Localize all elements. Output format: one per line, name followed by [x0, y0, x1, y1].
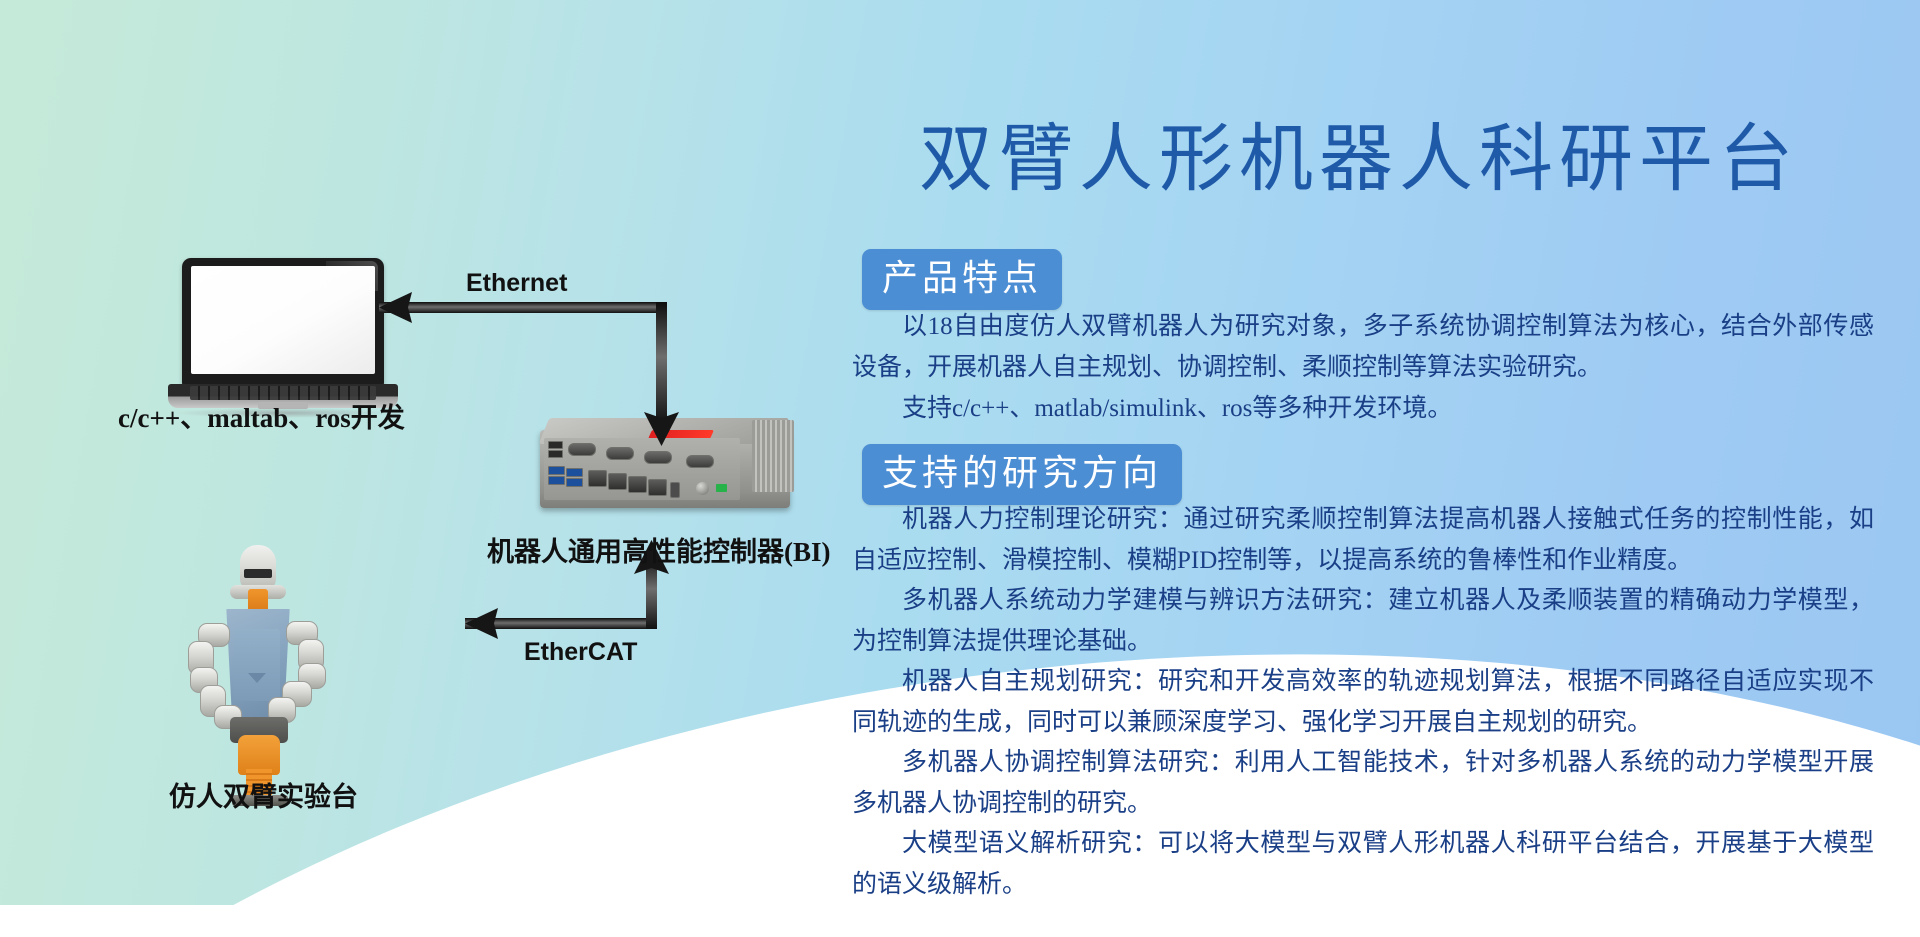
- controller-power-connector: [696, 482, 709, 495]
- section-badge-research-directions: 支持的研究方向: [862, 444, 1182, 505]
- controller-serial-port: [606, 447, 634, 460]
- controller-usb3-port: [566, 468, 583, 477]
- caption-laptop: c/c++、maltab、ros开发: [118, 396, 405, 435]
- controller-usb3-port: [548, 476, 565, 485]
- robot-visor: [244, 569, 272, 578]
- controller-serial-port: [686, 455, 714, 468]
- content-panel: 双臂人形机器人科研平台 产品特点 以18自由度仿人双臂机器人为研究对象，多子系统…: [838, 0, 1920, 937]
- laptop-lid: [182, 258, 384, 386]
- paragraph-research-4: 多机器人协调控制算法研究：利用人工智能技术，针对多机器人系统的动力学模型开展多机…: [852, 742, 1874, 824]
- paragraph-research-5: 大模型语义解析研究：可以将大模型与双臂人形机器人科研平台结合，开展基于大模型的语…: [852, 823, 1874, 905]
- industrial-controller-icon: [522, 416, 800, 521]
- laptop-screen: [191, 266, 375, 374]
- poster-root: Ethernet EtherCAT c/c++、maltab、ros开发 机器人…: [0, 0, 1920, 937]
- controller-usb3-port: [566, 478, 583, 487]
- link-label-ethercat: EtherCAT: [524, 638, 637, 667]
- controller-ethernet-port: [608, 473, 627, 490]
- page-title: 双臂人形机器人科研平台: [844, 123, 1874, 197]
- system-architecture-diagram: Ethernet EtherCAT c/c++、maltab、ros开发 机器人…: [0, 0, 840, 937]
- controller-usb-port: [548, 441, 563, 449]
- controller-display-port: [670, 482, 680, 498]
- controller-usb-port: [548, 450, 563, 458]
- paragraph-research-2: 多机器人系统动力学建模与辨识方法研究：建立机器人及柔顺装置的精确动力学模型，为控…: [852, 580, 1874, 662]
- controller-usb3-port: [548, 466, 565, 475]
- paragraph-research-3: 机器人自主规划研究：研究和开发高效率的轨迹规划算法，根据不同路径自适应实现不同轨…: [852, 661, 1874, 743]
- controller-heatsink: [752, 420, 794, 492]
- caption-controller: 机器人通用高性能控制器(BI): [487, 530, 831, 569]
- caption-robot: 仿人双臂实验台: [169, 775, 358, 814]
- controller-serial-port: [644, 451, 672, 464]
- controller-ethernet-port: [648, 479, 667, 496]
- paragraph-product-feature-1: 以18自由度仿人双臂机器人为研究对象，多子系统协调控制算法为核心，结合外部传感设…: [852, 306, 1874, 388]
- controller-ethernet-port: [588, 470, 607, 487]
- controller-ethernet-port: [628, 476, 647, 493]
- robot-chest-plate: [234, 629, 280, 701]
- paragraph-product-feature-2: 支持c/c++、matlab/simulink、ros等多种开发环境。: [852, 388, 1874, 429]
- laptop-icon: [168, 258, 398, 418]
- controller-serial-port: [568, 443, 596, 456]
- section-badge-product-features: 产品特点: [862, 249, 1062, 310]
- controller-status-led: [716, 484, 727, 492]
- humanoid-robot-icon: [182, 545, 342, 805]
- link-label-ethernet: Ethernet: [466, 269, 567, 298]
- controller-io-panel: [544, 438, 740, 500]
- paragraph-research-1: 机器人力控制理论研究：通过研究柔顺控制算法提高机器人接触式任务的控制性能，如自适…: [852, 499, 1874, 581]
